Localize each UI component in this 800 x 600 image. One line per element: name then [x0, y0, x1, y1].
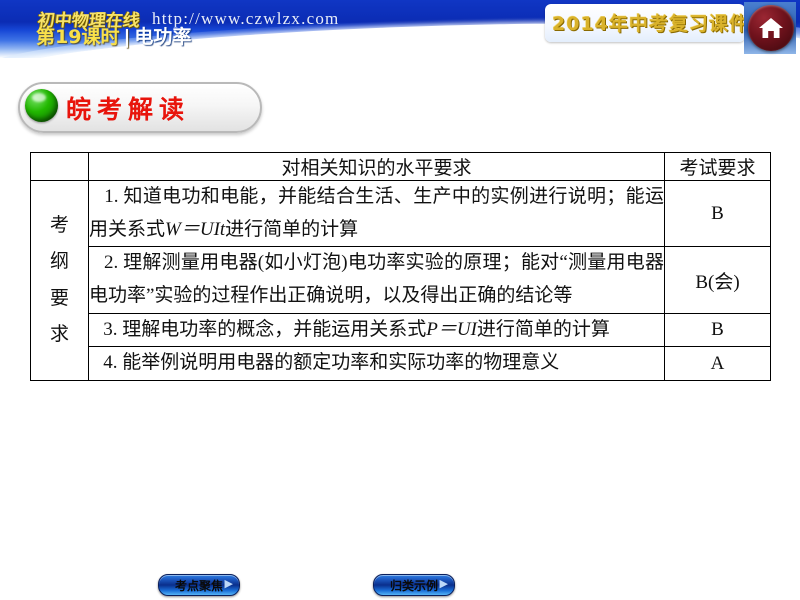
requirement-level: B(会) — [665, 247, 771, 313]
requirement-text-part1: 4. 能举例说明用电器的额定功率和实际功率的物理意义 — [103, 352, 559, 373]
table-row: 4. 能举例说明用电器的额定功率和实际功率的物理意义 A — [31, 347, 771, 381]
table-row: 考 纲 要 求 1. 知道电功和电能，并能结合生活、生产中的实例进行说明；能运用… — [31, 181, 771, 247]
row-group-label-char: 考 — [31, 208, 88, 244]
table-row: 2. 理解测量用电器(如小灯泡)电功率实验的原理；能对“测量用电器电功率”实验的… — [31, 247, 771, 313]
requirement-formula: P＝UI — [426, 319, 477, 340]
chevron-right-icon: ▶ — [225, 578, 233, 590]
table-corner-cell — [31, 153, 89, 181]
row-group-label-char: 要 — [31, 281, 88, 317]
requirement-level: B — [665, 181, 771, 247]
requirement-description: 2. 理解测量用电器(如小灯泡)电功率实验的原理；能对“测量用电器电功率”实验的… — [89, 247, 665, 313]
requirement-description: 4. 能举例说明用电器的额定功率和实际功率的物理意义 — [89, 347, 665, 381]
home-button-disc — [748, 5, 794, 51]
requirements-table-wrapper: 对相关知识的水平要求 考试要求 考 纲 要 求 1. 知道电功和电能，并能结合生… — [30, 152, 770, 381]
requirement-description: 1. 知道电功和电能，并能结合生活、生产中的实例进行说明；能运用关系式W＝UIt… — [89, 181, 665, 247]
home-button[interactable] — [744, 2, 796, 54]
lesson-subject: 电功率 — [134, 26, 191, 48]
column-header-description: 对相关知识的水平要求 — [89, 153, 665, 181]
requirement-text-part2: 进行简单的计算 — [477, 319, 610, 340]
requirements-table: 对相关知识的水平要求 考试要求 考 纲 要 求 1. 知道电功和电能，并能结合生… — [30, 152, 771, 381]
nav-button-examples[interactable]: 归类示例 ▶ — [373, 574, 455, 596]
requirement-formula: W＝UIt — [165, 219, 225, 240]
row-group-label-char: 纲 — [31, 244, 88, 280]
banner-title: 2014年中考复习课件 — [552, 9, 738, 36]
table-row: 3. 理解电功率的概念，并能运用关系式P＝UI进行简单的计算 B — [31, 313, 771, 347]
nav-button-key-points[interactable]: 考点聚焦 ▶ — [158, 574, 240, 596]
green-circle-icon — [25, 89, 58, 122]
chevron-right-icon: ▶ — [440, 578, 448, 590]
column-header-level: 考试要求 — [665, 153, 771, 181]
section-title: 皖考解读 — [66, 90, 190, 126]
lesson-number: 第19课时 — [36, 26, 119, 48]
row-group-label-char: 求 — [31, 317, 88, 353]
title-separator: | — [123, 26, 130, 48]
page-header: 初中物理在线 http://www.czwlzx.com 第19课时|电功率 2… — [0, 0, 800, 58]
requirement-description: 3. 理解电功率的概念，并能运用关系式P＝UI进行简单的计算 — [89, 313, 665, 347]
requirement-level: B — [665, 313, 771, 347]
requirement-text-part1: 3. 理解电功率的概念，并能运用关系式 — [103, 319, 426, 340]
requirement-level: A — [665, 347, 771, 381]
home-icon — [758, 16, 784, 40]
table-header-row: 对相关知识的水平要求 考试要求 — [31, 153, 771, 181]
row-group-label: 考 纲 要 求 — [31, 181, 89, 381]
page-title: 第19课时|电功率 — [36, 22, 191, 49]
requirement-text-part2: 进行简单的计算 — [225, 219, 358, 240]
requirement-text-part1: 2. 理解测量用电器(如小灯泡)电功率实验的原理；能对“测量用电器电功率”实验的… — [89, 252, 664, 306]
